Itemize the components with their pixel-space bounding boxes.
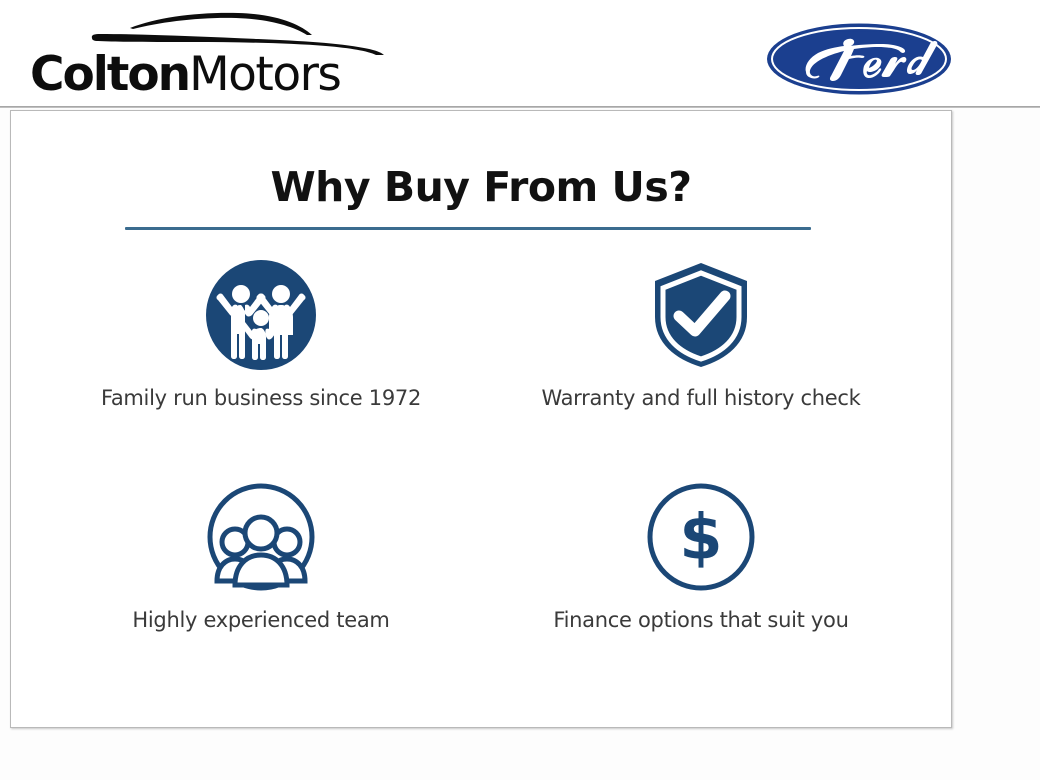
colton-motors-logo[interactable]: ColtonMotors bbox=[30, 8, 390, 104]
brand-name-light: Motors bbox=[189, 47, 340, 102]
benefit-caption: Highly experienced team bbox=[96, 605, 426, 635]
benefit-item-warranty: Warranty and full history check bbox=[481, 251, 921, 473]
content-panel: Why Buy From Us? bbox=[10, 110, 952, 728]
svg-text:$: $ bbox=[679, 501, 722, 574]
page-title: Why Buy From Us? bbox=[11, 163, 951, 211]
brand-name-bold: Colton bbox=[30, 47, 189, 102]
ford-oval-logo[interactable] bbox=[766, 22, 952, 96]
benefit-caption: Warranty and full history check bbox=[536, 383, 866, 413]
benefit-caption: Family run business since 1972 bbox=[96, 383, 426, 413]
brand-wordmark: ColtonMotors bbox=[30, 46, 390, 102]
page-header: ColtonMotors bbox=[0, 0, 1040, 108]
dollar-sign-icon: $ bbox=[645, 481, 757, 593]
family-group-icon bbox=[205, 259, 317, 371]
benefit-item-team: Highly experienced team bbox=[41, 473, 481, 695]
benefit-item-family: Family run business since 1972 bbox=[41, 251, 481, 473]
header-divider bbox=[0, 106, 1040, 108]
benefits-grid: Family run business since 1972 Warranty … bbox=[41, 251, 921, 695]
benefit-caption: Finance options that suit you bbox=[536, 605, 866, 635]
shield-check-icon bbox=[645, 259, 757, 371]
people-team-icon bbox=[205, 481, 317, 593]
benefit-item-finance: $ Finance options that suit you bbox=[481, 473, 921, 695]
title-underline bbox=[125, 227, 811, 230]
